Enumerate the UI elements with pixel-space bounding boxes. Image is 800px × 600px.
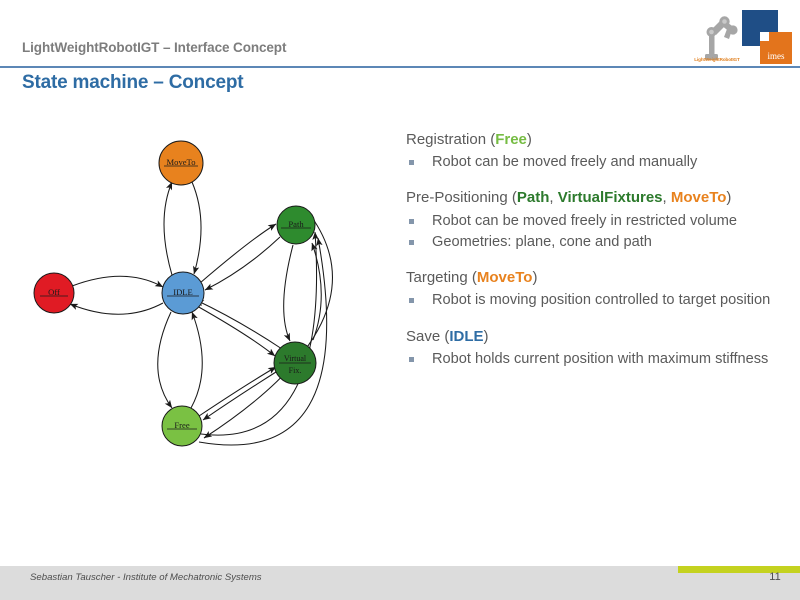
heading-part: ) <box>532 269 537 286</box>
list-item-text: Robot holds current position with maximu… <box>432 350 786 368</box>
list-item: Robot holds current position with maximu… <box>406 350 786 368</box>
description-block-registration: Registration (Free) Robot can be moved f… <box>406 130 786 171</box>
footer-author-text: Sebastian Tauscher - Institute of Mechat… <box>30 572 262 583</box>
keyword-moveto: MoveTo <box>671 189 727 206</box>
keyword-virtualfixtures: VirtualFixtures <box>558 189 663 206</box>
heading-part: ) <box>726 189 731 206</box>
list-item-text: Robot can be moved freely in restricted … <box>432 212 786 230</box>
page-title: State machine – Concept <box>22 72 243 94</box>
bullet-square-icon <box>409 298 414 303</box>
state-node-free[interactable]: Free <box>162 406 202 446</box>
description-block-save: Save (IDLE) Robot holds current position… <box>406 327 786 368</box>
state-label-off: Off <box>48 287 60 297</box>
state-label-virtualfix-line1: Virtual <box>284 354 307 363</box>
heading-part: Registration ( <box>406 131 495 148</box>
heading-part: Targeting ( <box>406 269 477 286</box>
list-item-text: Geometries: plane, cone and path <box>432 233 786 251</box>
state-node-virtualfix[interactable]: Virtual Fix. <box>274 342 316 384</box>
bullet-square-icon <box>409 357 414 362</box>
keyword-moveto: MoveTo <box>477 269 533 286</box>
heading-part: ) <box>484 328 489 345</box>
heading-part: , <box>663 189 671 206</box>
state-node-idle[interactable]: IDLE <box>162 272 204 314</box>
header-subtitle: LightWeightRobotIGT – Interface Concept <box>22 40 286 55</box>
description-block-pre-positioning: Pre-Positioning (Path, VirtualFixtures, … <box>406 188 786 251</box>
keyword-free: Free <box>495 131 527 148</box>
state-label-moveto: MoveTo <box>167 157 196 167</box>
state-node-moveto[interactable]: MoveTo <box>159 141 203 185</box>
block-heading: Targeting (MoveTo) <box>406 268 786 287</box>
block-heading: Save (IDLE) <box>406 327 786 346</box>
list-item: Robot can be moved freely and manually <box>406 153 786 171</box>
list-item-text: Robot is moving position controlled to t… <box>432 291 786 309</box>
list-item: Robot can be moved freely in restricted … <box>406 212 786 230</box>
robot-arm-icon <box>688 8 740 64</box>
keyword-path: Path <box>517 189 550 206</box>
state-label-virtualfix-line2: Fix. <box>289 366 302 375</box>
bullet-square-icon <box>409 219 414 224</box>
bullet-square-icon <box>409 160 414 165</box>
state-nodes: Off MoveTo IDLE Path <box>34 141 316 446</box>
heading-part: Save ( <box>406 328 449 345</box>
bullet-square-icon <box>409 240 414 245</box>
state-node-path[interactable]: Path <box>277 206 315 244</box>
robot-logo-caption: LightWeightRobotIGT <box>686 57 748 62</box>
state-label-free: Free <box>174 420 189 430</box>
heading-part: , <box>549 189 557 206</box>
imes-logo: imes <box>742 10 792 64</box>
heading-part: ) <box>527 131 532 148</box>
heading-part: Pre-Positioning ( <box>406 189 517 206</box>
page-number: 11 <box>762 571 788 583</box>
state-machine-diagram: Off MoveTo IDLE Path <box>0 120 395 540</box>
description-block-targeting: Targeting (MoveTo) Robot is moving posit… <box>406 268 786 309</box>
list-item-text: Robot can be moved freely and manually <box>432 153 786 171</box>
header-divider <box>0 66 800 68</box>
slide: LightWeightRobotIGT – Interface Concept … <box>0 0 800 600</box>
state-label-path: Path <box>288 219 304 229</box>
block-heading: Pre-Positioning (Path, VirtualFixtures, … <box>406 188 786 207</box>
imes-notch <box>760 32 769 41</box>
list-item: Geometries: plane, cone and path <box>406 233 786 251</box>
state-label-idle: IDLE <box>173 287 193 297</box>
list-item: Robot is moving position controlled to t… <box>406 291 786 309</box>
imes-label: imes <box>760 51 792 61</box>
keyword-idle: IDLE <box>449 328 483 345</box>
concept-description-list: Registration (Free) Robot can be moved f… <box>406 130 786 385</box>
state-node-off[interactable]: Off <box>34 273 74 313</box>
block-heading: Registration (Free) <box>406 130 786 149</box>
